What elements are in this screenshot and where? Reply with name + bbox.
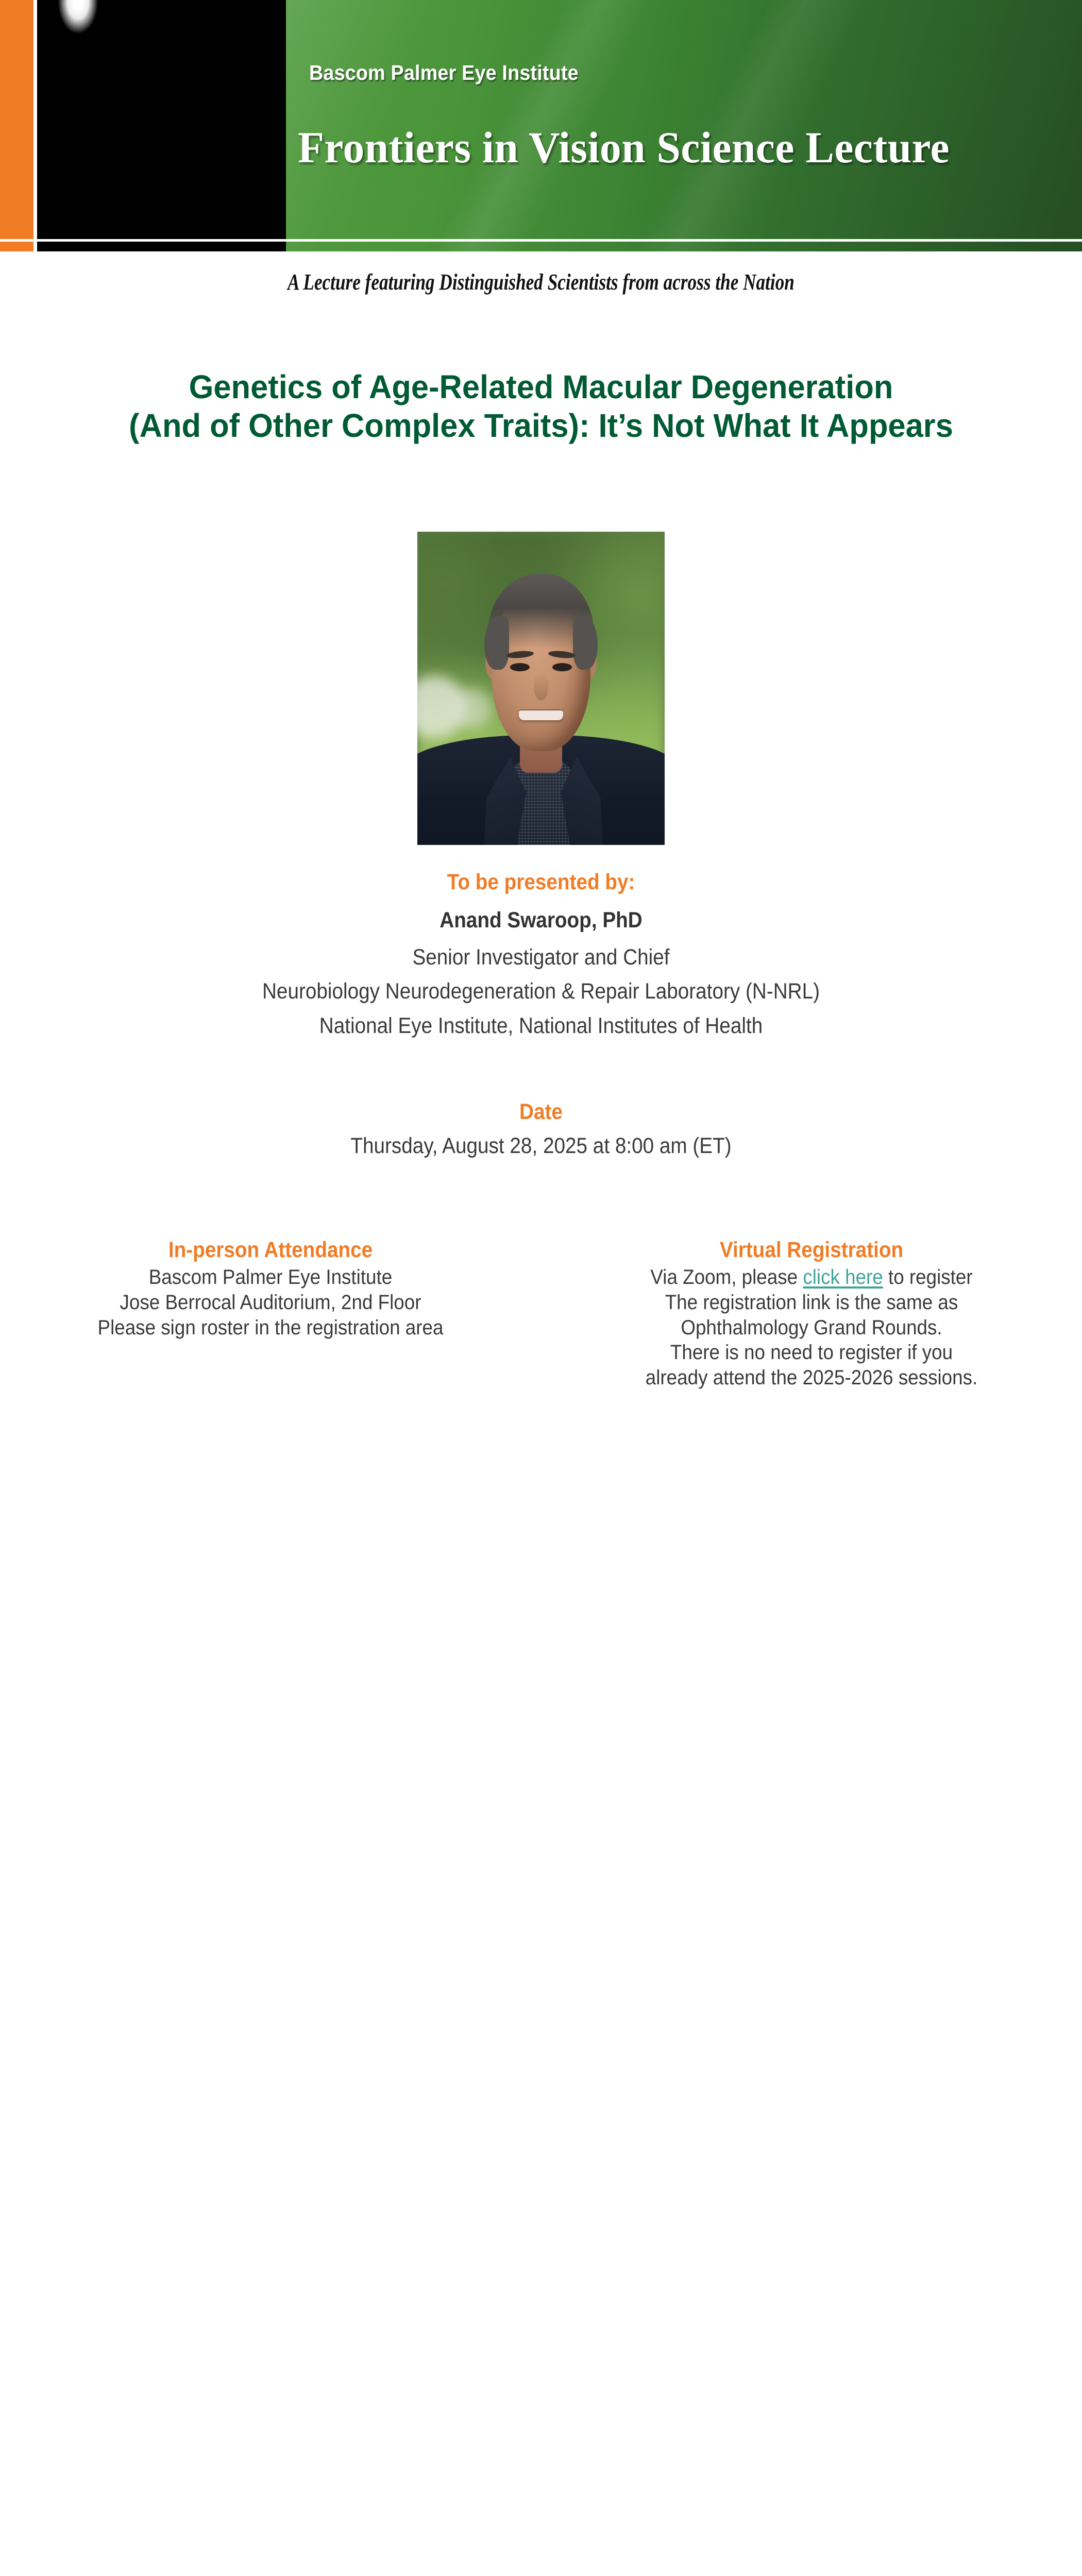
header-series-title: Frontiers in Vision Science Lecture bbox=[298, 122, 950, 173]
in-person-attendance-section: In-person Attendance Bascom Palmer Eye I… bbox=[0, 1238, 541, 1340]
portrait-mouth bbox=[519, 710, 563, 720]
presenter-affiliation: National Eye Institute, National Institu… bbox=[54, 1013, 1028, 1039]
register-link[interactable]: click here bbox=[803, 1266, 883, 1289]
presenter-lab: Neurobiology Neurodegeneration & Repair … bbox=[54, 979, 1028, 1004]
virtual-registration-section: Virtual Registration Via Zoom, please cl… bbox=[541, 1238, 1082, 1391]
in-person-line-3: Please sign roster in the registration a… bbox=[22, 1315, 519, 1341]
header-banner: Bascom Palmer Eye Institute Frontiers in… bbox=[0, 0, 1082, 251]
presenter-role: Senior Investigator and Chief bbox=[54, 945, 1028, 970]
portrait-eye-right bbox=[552, 663, 572, 671]
microscopy-grain bbox=[37, 0, 286, 251]
portrait-bokeh-2 bbox=[452, 688, 492, 729]
virtual-line-3: Ophthalmology Grand Rounds. bbox=[563, 1315, 1060, 1341]
header-institute-name: Bascom Palmer Eye Institute bbox=[309, 61, 579, 85]
virtual-line-4: There is no need to register if you bbox=[563, 1340, 1060, 1365]
microscopy-image bbox=[37, 0, 286, 251]
presenter-name: Anand Swaroop, PhD bbox=[54, 908, 1028, 933]
lecture-title-line-1: Genetics of Age-Related Macular Degenera… bbox=[189, 368, 893, 405]
in-person-line-2: Jose Berrocal Auditorium, 2nd Floor bbox=[22, 1290, 519, 1315]
presenter-label: To be presented by: bbox=[54, 870, 1028, 895]
virtual-line-1: Via Zoom, please click here to register bbox=[563, 1265, 1060, 1290]
speaker-portrait bbox=[417, 532, 665, 845]
date-label: Date bbox=[54, 1099, 1028, 1125]
virtual-line-1-suffix: to register bbox=[883, 1266, 973, 1289]
in-person-heading: In-person Attendance bbox=[27, 1238, 514, 1263]
header-white-rule bbox=[37, 239, 1082, 242]
virtual-line-2: The registration link is the same as bbox=[563, 1290, 1060, 1315]
lecture-title-line-2: (And of Other Complex Traits): It’s Not … bbox=[22, 406, 1060, 445]
date-value: Thursday, August 28, 2025 at 8:00 am (ET… bbox=[54, 1133, 1028, 1159]
virtual-heading: Virtual Registration bbox=[568, 1238, 1055, 1263]
page-title: Genetics of Age-Related Macular Degenera… bbox=[22, 368, 1060, 445]
portrait-hair-left bbox=[484, 616, 509, 669]
virtual-line-1-prefix: Via Zoom, please bbox=[650, 1266, 803, 1289]
orange-accent-bar bbox=[0, 0, 33, 251]
virtual-line-5: already attend the 2025-2026 sessions. bbox=[563, 1365, 1060, 1391]
footer: Bascom Palmer Eye Institute UNIVERSITY O… bbox=[0, 1463, 1082, 1649]
in-person-line-1: Bascom Palmer Eye Institute bbox=[22, 1265, 519, 1290]
header-white-rule-left bbox=[0, 239, 33, 242]
lecture-series-subtitle: A Lecture featuring Distinguished Scient… bbox=[108, 269, 974, 295]
